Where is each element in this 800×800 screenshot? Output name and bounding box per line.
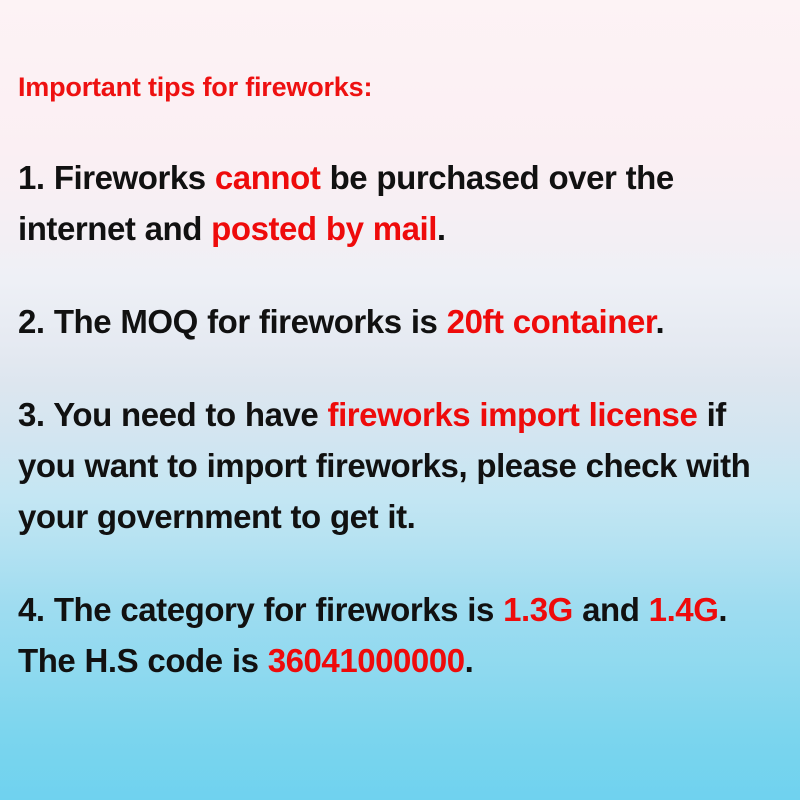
tip-4-text-and: and [573, 591, 649, 628]
tip-1-highlight-cannot: cannot [215, 159, 320, 196]
tip-4-text-tail: . [465, 642, 474, 679]
tip-item-2: 2. The MOQ for fireworks is 20ft contain… [18, 296, 786, 347]
tip-4-highlight-hs-code: 36041000000 [268, 642, 465, 679]
page-title: Important tips for fireworks: [18, 70, 372, 104]
tip-2-highlight-moq: 20ft container [447, 303, 656, 340]
tip-4-text-lead: 4. The category for fireworks is [18, 591, 503, 628]
tips-list: 1. Fireworks cannot be purchased over th… [18, 152, 786, 686]
fireworks-notice-panel: Important tips for fireworks: 1. Firewor… [0, 0, 800, 800]
tip-4-highlight-category-14g: 1.4G [649, 591, 719, 628]
tip-item-1: 1. Fireworks cannot be purchased over th… [18, 152, 786, 254]
tip-1-highlight-posted-by-mail: posted by mail [211, 210, 437, 247]
tip-1-text-tail: . [437, 210, 446, 247]
tip-2-text-lead: 2. The MOQ for fireworks is [18, 303, 447, 340]
tip-item-3: 3. You need to have fireworks import lic… [18, 389, 786, 542]
tip-3-text-lead: 3. You need to have [18, 396, 328, 433]
tip-3-highlight-license: fireworks import license [328, 396, 698, 433]
tip-2-text-tail: . [655, 303, 664, 340]
tip-item-4: 4. The category for fireworks is 1.3G an… [18, 584, 786, 686]
tip-4-highlight-category-13g: 1.3G [503, 591, 573, 628]
tip-1-text-lead: 1. Fireworks [18, 159, 215, 196]
